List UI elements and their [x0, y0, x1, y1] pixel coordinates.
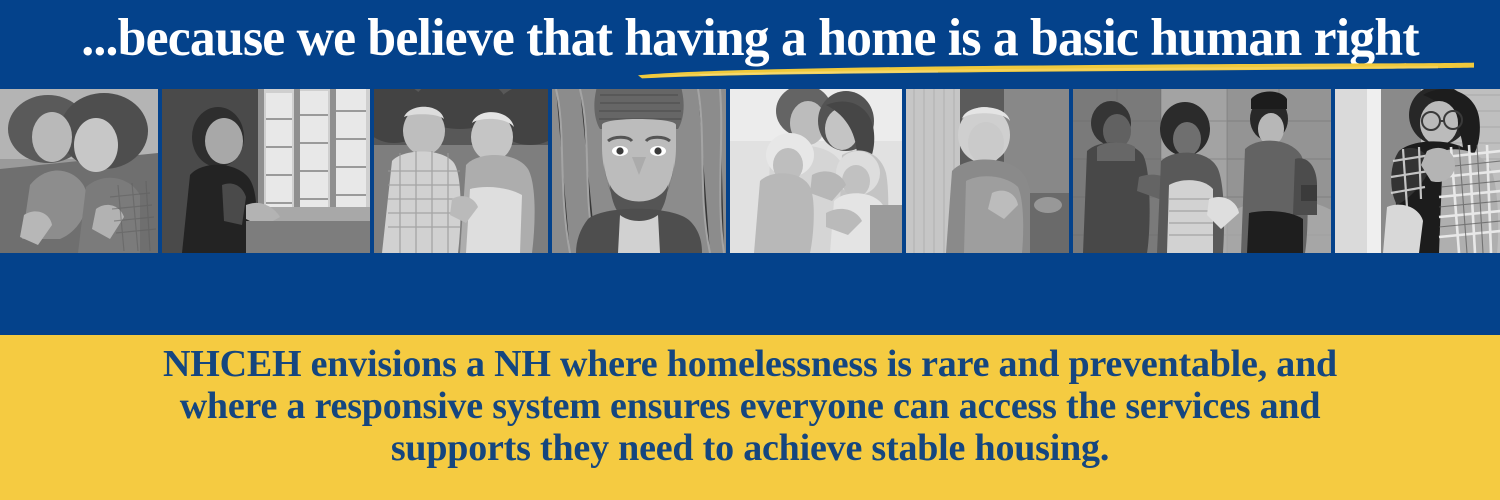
photo-young-person-plaid-image: [1335, 89, 1500, 253]
photo-parent-hugging-children-image: [730, 89, 902, 253]
photo-three-young-people-talking-image: [1073, 89, 1331, 253]
photo-bearded-man-beanie: [552, 89, 726, 253]
photo-young-man-at-window-image: [162, 89, 370, 253]
photo-older-couple: [374, 89, 548, 253]
photo-two-women-embracing-image: [0, 89, 158, 253]
headline-band: ...because we believe that having a home…: [0, 0, 1500, 89]
photo-three-young-people-talking: [1073, 89, 1331, 253]
photo-collage-strip: [0, 89, 1500, 253]
photo-elderly-woman-image: [906, 89, 1069, 253]
mission-line-1: NHCEH envisions a NH where homelessness …: [0, 343, 1500, 385]
photo-young-person-plaid: [1335, 89, 1500, 253]
photo-two-women-embracing: [0, 89, 158, 253]
photo-older-couple-image: [374, 89, 548, 253]
photo-elderly-woman: [906, 89, 1069, 253]
photo-young-man-at-window: [162, 89, 370, 253]
mission-line-3: supports they need to achieve stable hou…: [0, 427, 1500, 469]
nhceh-banner: ...because we believe that having a home…: [0, 0, 1500, 500]
blue-spacer-band: [0, 253, 1500, 335]
headline-tagline: ...because we believe that having a home…: [19, 2, 1482, 74]
photo-bearded-man-beanie-image: [552, 89, 726, 253]
mission-line-2: where a responsive system ensures everyo…: [0, 385, 1500, 427]
mission-statement: NHCEH envisions a NH where homelessness …: [0, 343, 1500, 469]
mission-band: NHCEH envisions a NH where homelessness …: [0, 335, 1500, 500]
photo-parent-hugging-children: [730, 89, 902, 253]
